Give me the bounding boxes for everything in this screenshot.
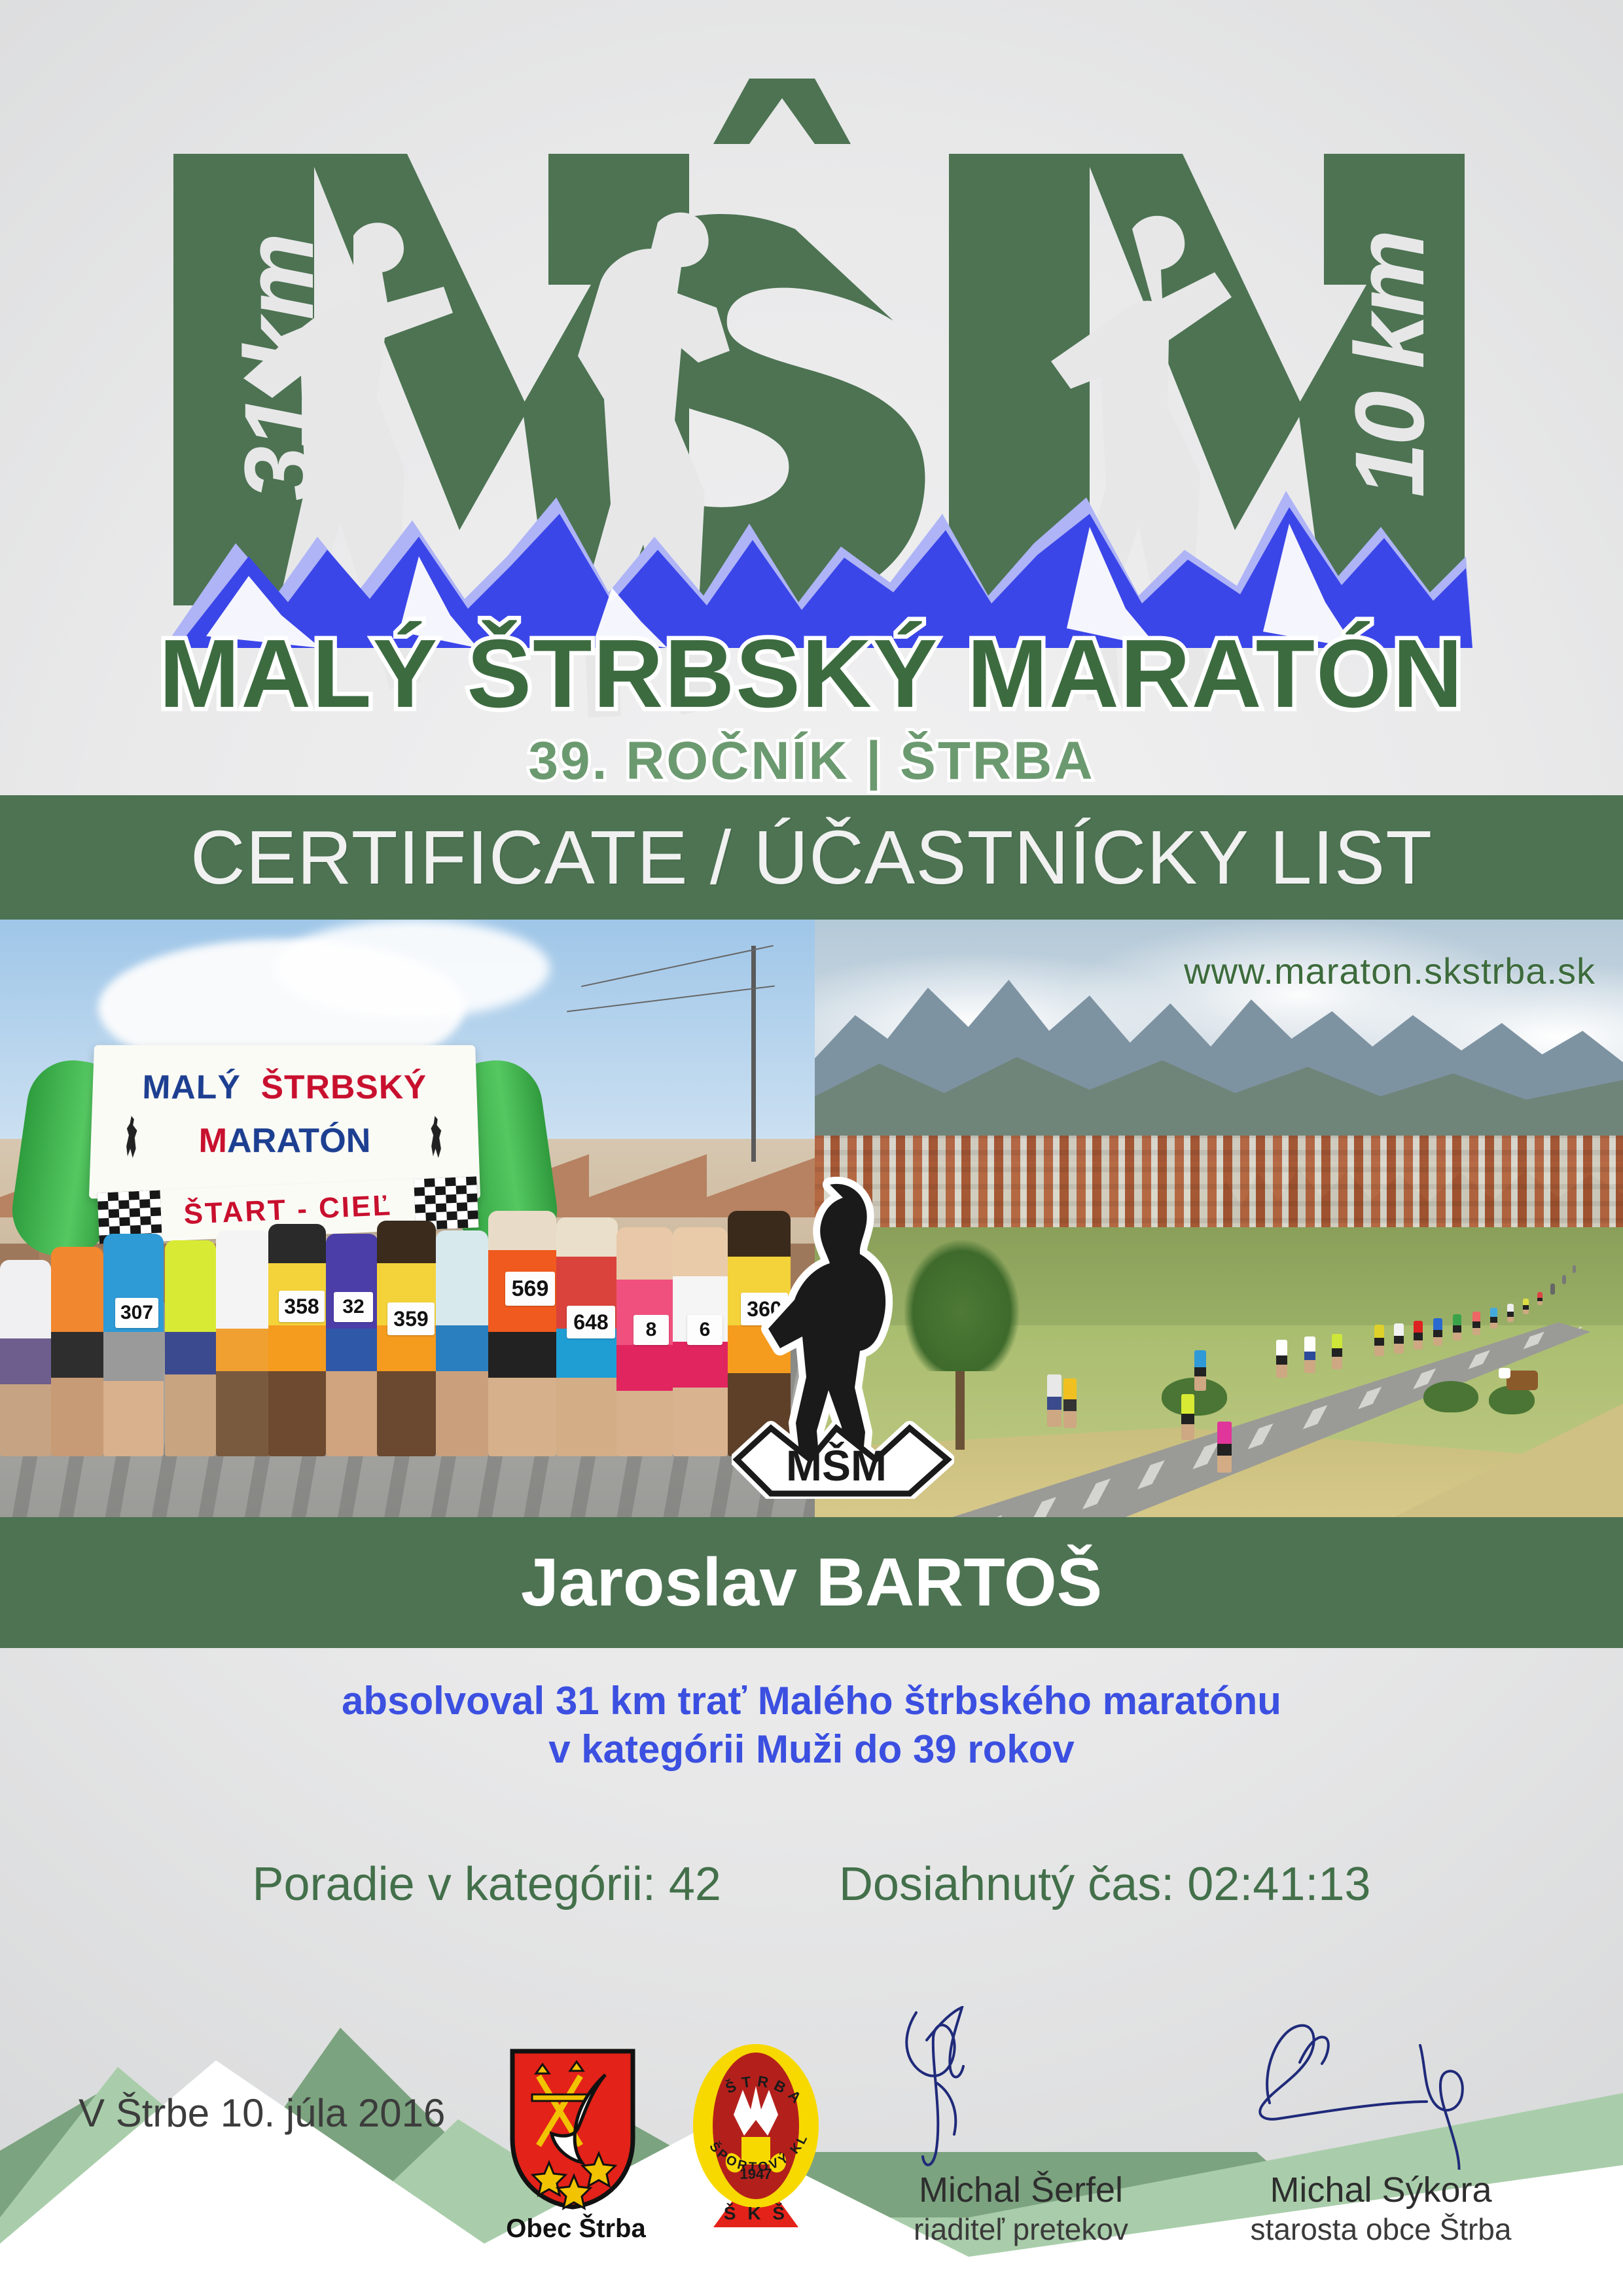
spectator (1063, 1378, 1077, 1428)
runner (436, 1230, 488, 1456)
signer-name: Michal Šerfel (838, 2170, 1204, 2210)
distance-right-label: 10 km (1334, 232, 1444, 497)
runner-crowd: 307 358 32 359 569 648 8 6 360 (0, 1221, 815, 1456)
distance-left-label: 31 km (224, 236, 334, 501)
bib-number: 359 (387, 1302, 435, 1335)
spectator (1047, 1374, 1061, 1427)
runner-on-course (1550, 1283, 1555, 1295)
signature-ink (1198, 2006, 1564, 2170)
runner-on-course (1453, 1314, 1461, 1340)
runner-on-course (1490, 1308, 1497, 1329)
runner-on-course (1433, 1318, 1442, 1346)
runner-on-course (1374, 1325, 1384, 1356)
runner (377, 1221, 436, 1456)
runner-on-course (1507, 1304, 1514, 1322)
msm-runner-cutout-emblem: MŠM (732, 1172, 954, 1499)
certificate-heading: CERTIFICATE / ÚČASTNÍCKY LIST (0, 795, 1623, 920)
runner-on-course (1304, 1336, 1315, 1373)
runner-on-course (1414, 1321, 1423, 1350)
certificate-heading-band: CERTIFICATE / ÚČASTNÍCKY LIST (0, 795, 1623, 920)
runner-on-course (1332, 1334, 1342, 1369)
signer-name: Michal Sýkora (1198, 2170, 1564, 2210)
bib-number: 307 (115, 1298, 158, 1328)
certificate-footer: V Štrbe 10. júla 2016 Obec Štrba (0, 1988, 1623, 2296)
event-title: MALÝ ŠTRBSKÝ MARATÓN (159, 619, 1464, 728)
bib-number: 32 (334, 1292, 373, 1322)
utility-pole (751, 946, 756, 1162)
bib-number: 569 (505, 1272, 555, 1306)
sks-strba-club-logo: 1947 ŠTRBA ŠPORTOVÝ KLUB Š K Š (690, 2037, 821, 2227)
runner-on-course (1194, 1350, 1206, 1391)
participant-name-band: Jaroslav BARTOŠ (0, 1517, 1623, 1648)
runner-on-course (1276, 1340, 1287, 1378)
description-line-1: absolvoval 31 km trať Malého štrbského m… (0, 1677, 1623, 1725)
website-url: www.maraton.skstrba.sk (1184, 950, 1596, 992)
runner-on-course (1573, 1265, 1576, 1273)
obec-strba-coat-of-arms (507, 2047, 638, 2211)
runner-on-course (1523, 1299, 1529, 1314)
runner (165, 1240, 216, 1456)
bib-number: 6 (687, 1315, 722, 1345)
description: absolvoval 31 km trať Malého štrbského m… (0, 1677, 1623, 1774)
msm-logo: 31 km 10 km MALÝ ŠTRBSKÝ MARATÓN 39. ROČ… (137, 39, 1486, 798)
arch-title-line1: MALÝ ŠTRBSKÝ (92, 1068, 478, 1107)
inflatable-start-arch: MALÝ ŠTRBSKÝ MARATÓN ŠTART - CIEĽ (20, 1008, 543, 1204)
description-line-2: v kategórii Muži do 39 rokov (0, 1725, 1623, 1774)
bib-number: 8 (633, 1315, 669, 1345)
participant-name: Jaroslav BARTOŠ (0, 1517, 1623, 1648)
cloud (275, 920, 550, 1018)
bush (1423, 1381, 1478, 1412)
runner (326, 1234, 378, 1456)
emblem-label: MŠM (786, 1441, 887, 1490)
bib-number: 648 (567, 1306, 615, 1338)
runner-on-course (1394, 1323, 1404, 1354)
runner (51, 1247, 103, 1456)
photo-start-line: MALÝ ŠTRBSKÝ MARATÓN ŠTART - CIEĽ (0, 920, 815, 1518)
runner (103, 1234, 164, 1456)
municipality-label: Obec Štrba (484, 2214, 668, 2244)
place-and-date: V Štrbe 10. júla 2016 (79, 2090, 445, 2136)
bib-number: 358 (279, 1291, 325, 1322)
tree (955, 1338, 965, 1450)
signer-role: starosta obce Štrba (1198, 2212, 1564, 2247)
runner (488, 1211, 556, 1456)
signature-ink (838, 2006, 1204, 2170)
signer-role: riaditeľ pretekov (838, 2212, 1204, 2247)
signature-block-director: Michal Šerfel riaditeľ pretekov (838, 2170, 1204, 2247)
runner-on-course (1562, 1275, 1566, 1284)
event-logo-area: 31 km 10 km MALÝ ŠTRBSKÝ MARATÓN 39. ROČ… (0, 0, 1623, 792)
cow (1507, 1371, 1538, 1390)
runner (268, 1224, 326, 1456)
runner-on-course (1537, 1292, 1543, 1305)
runner-on-course (1472, 1312, 1480, 1335)
event-subtitle: 39. ROČNÍK | ŠTRBA (528, 731, 1094, 791)
certificate-page: 31 km 10 km MALÝ ŠTRBSKÝ MARATÓN 39. ROČ… (0, 0, 1623, 2296)
arch-banner: MALÝ ŠTRBSKÝ MARATÓN (89, 1045, 480, 1198)
runner-on-course (1181, 1394, 1194, 1440)
runner-on-course (1217, 1422, 1232, 1473)
signature-block-mayor: Michal Sýkora starosta obce Štrba (1198, 2170, 1564, 2247)
runner (216, 1230, 270, 1456)
runner (0, 1260, 51, 1456)
arch-title-line2: MARATÓN (90, 1121, 479, 1160)
club-bottom-text: Š K Š (724, 2202, 788, 2223)
